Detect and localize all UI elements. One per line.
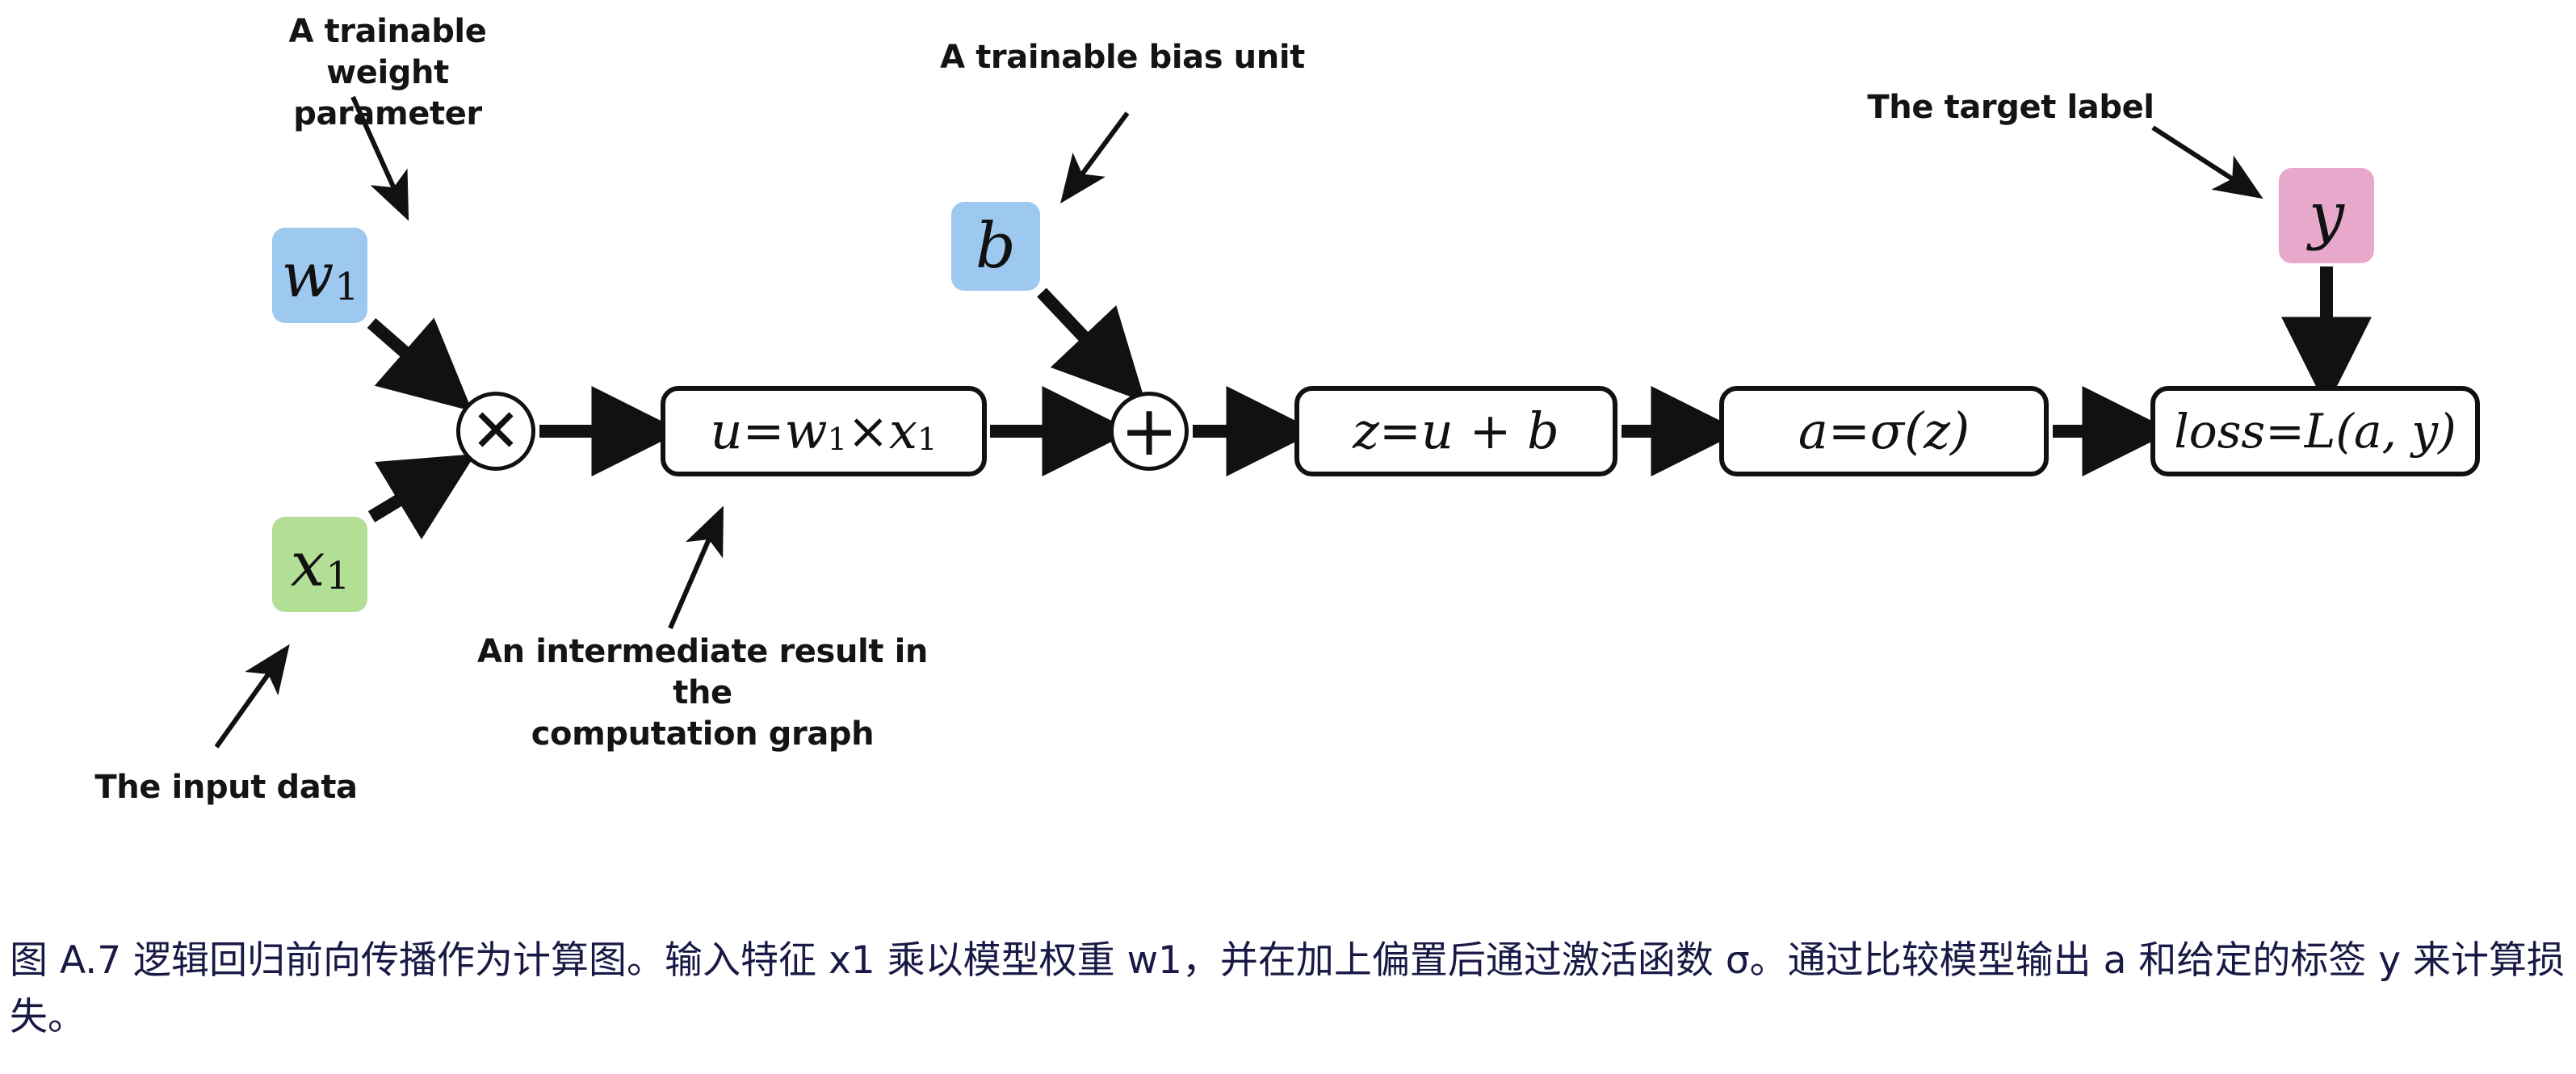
annotation-target: The target label (1849, 87, 2172, 128)
edge-bias-to-add (1042, 292, 1124, 380)
node-input-subscript: 1 (325, 557, 350, 595)
formula-loss-equals: = (2265, 408, 2305, 455)
node-bias-b[interactable]: b (951, 202, 1040, 291)
formula-u-lhs: u (711, 406, 743, 456)
node-target-y[interactable]: y (2279, 168, 2374, 263)
formula-u-rhs-a-subscript: 1 (828, 425, 847, 455)
formula-u-rhs-b: x (889, 406, 917, 456)
formula-box-u[interactable]: u = w1 × x1 (661, 386, 987, 476)
node-bias-label: b (975, 215, 1016, 278)
formula-a-rhs: σ(z) (1870, 406, 1970, 456)
formula-box-a[interactable]: a = σ(z) (1719, 386, 2049, 476)
formula-u-times: × (847, 406, 889, 456)
connector-layer (0, 0, 2576, 1074)
node-target-label: y (2309, 184, 2344, 247)
formula-u-rhs-b-subscript: 1 (917, 425, 937, 455)
add-operator-icon[interactable]: + (1110, 392, 1189, 471)
edge-input-to-multiply (371, 470, 449, 517)
leader-intermediate (670, 517, 719, 628)
multiply-glyph: ✕ (460, 396, 531, 467)
annotation-input: The input data (81, 767, 371, 808)
annotation-intermediate: An intermediate result in the computatio… (452, 631, 953, 756)
node-weight-subscript: 1 (334, 268, 359, 306)
annotation-weight: A trainable weight parameter (226, 11, 549, 136)
node-weight-label: w (281, 245, 334, 306)
formula-z-lhs: z (1353, 406, 1379, 456)
figure-canvas: w1 x1 b y ✕ + u = w1 × x1 z = u + b a = … (0, 0, 2576, 1074)
edge-weight-to-multiply (371, 323, 449, 391)
formula-u-equals: = (743, 406, 785, 456)
leader-target (2153, 128, 2253, 192)
multiply-operator-icon[interactable]: ✕ (456, 392, 535, 471)
figure-caption: 图 A.7 逻辑回归前向传播作为计算图。输入特征 x1 乘以模型权重 w1，并在… (10, 933, 2570, 1045)
annotation-bias: A trainable bias unit (937, 37, 1308, 78)
node-weight-w1[interactable]: w1 (272, 228, 367, 323)
leader-input (216, 654, 283, 747)
formula-loss-lhs: loss (2174, 408, 2265, 455)
formula-z-rhs: u + b (1421, 406, 1559, 456)
formula-z-equals: = (1379, 406, 1421, 456)
formula-box-z[interactable]: z = u + b (1294, 386, 1617, 476)
add-glyph: + (1114, 396, 1185, 467)
node-input-label: x (291, 534, 325, 595)
formula-u-rhs-a: w (784, 406, 827, 456)
leader-bias (1068, 113, 1127, 194)
formula-a-equals: = (1828, 406, 1870, 456)
formula-loss-rhs: L(a, y) (2305, 408, 2456, 455)
node-input-x1[interactable]: x1 (272, 517, 367, 612)
formula-box-loss[interactable]: loss = L(a, y) (2150, 386, 2480, 476)
formula-a-lhs: a (1798, 406, 1828, 456)
